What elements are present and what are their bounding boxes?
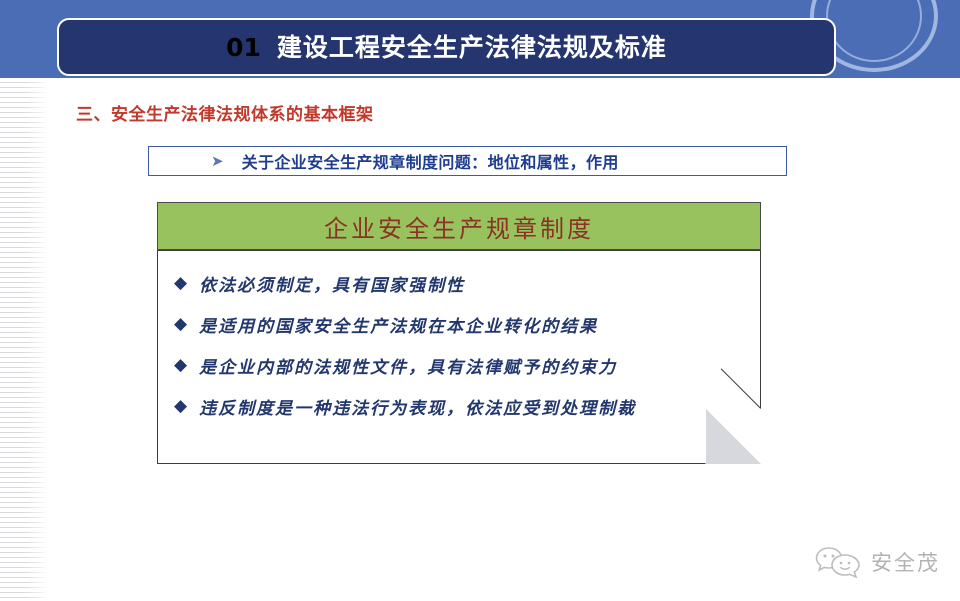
slide-canvas: 01 建设工程安全生产法律法规及标准 三、安全生产法律法规体系的基本框架 ➤ 关…: [0, 0, 960, 601]
left-stripe-fade-overlay: [0, 62, 46, 601]
diamond-bullet-icon: ◆: [174, 275, 187, 292]
slide-number: 01: [226, 33, 261, 62]
diamond-bullet-icon: ◆: [174, 357, 187, 374]
slide-title-box: 01 建设工程安全生产法律法规及标准: [57, 18, 836, 76]
card-body: ◆ 依法必须制定，具有国家强制性 ◆ 是适用的国家安全生产法规在本企业转化的结果…: [157, 250, 761, 464]
list-item-label: 是适用的国家安全生产法规在本企业转化的结果: [199, 312, 598, 337]
subheading-box: ➤ 关于企业安全生产规章制度问题：地位和属性，作用: [148, 146, 787, 176]
list-item: ◆ 依法必须制定，具有国家强制性: [158, 263, 760, 304]
diamond-bullet-icon: ◆: [174, 316, 187, 333]
bullet-list: ◆ 依法必须制定，具有国家强制性 ◆ 是适用的国家安全生产法规在本企业转化的结果…: [158, 263, 760, 427]
wechat-bubbles-icon: [815, 545, 861, 579]
list-item-label: 是企业内部的法规性文件，具有法律赋予的约束力: [199, 353, 617, 378]
card-header-bar: 企业安全生产规章制度: [157, 202, 761, 250]
arrow-bullet-icon: ➤: [211, 154, 224, 169]
page-title: 建设工程安全生产法律法规及标准: [277, 35, 667, 60]
watermark-label: 安全茂: [871, 547, 940, 577]
diamond-bullet-icon: ◆: [174, 398, 187, 415]
card-header-title: 企业安全生产规章制度: [324, 209, 594, 244]
list-item: ◆ 是适用的国家安全生产法规在本企业转化的结果: [158, 304, 760, 345]
section-heading: 三、安全生产法律法规体系的基本框架: [76, 100, 374, 125]
list-item: ◆ 违反制度是一种违法行为表现，依法应受到处理制裁: [158, 386, 760, 427]
list-item: ◆ 是企业内部的法规性文件，具有法律赋予的约束力: [158, 345, 760, 386]
watermark: 安全茂: [815, 545, 940, 579]
list-item-label: 违反制度是一种违法行为表现，依法应受到处理制裁: [199, 394, 636, 419]
subheading-text: 关于企业安全生产规章制度问题：地位和属性，作用: [242, 149, 619, 173]
list-item-label: 依法必须制定，具有国家强制性: [199, 271, 465, 296]
